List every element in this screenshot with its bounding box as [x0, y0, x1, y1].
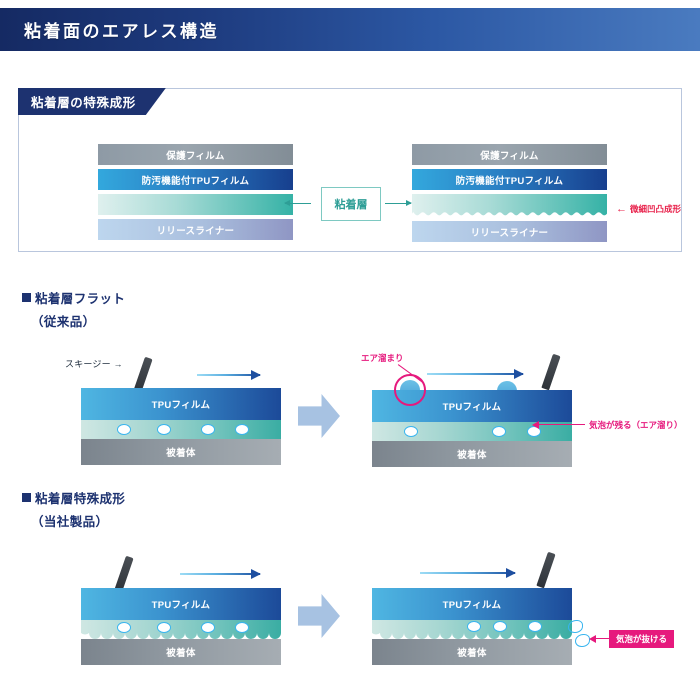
air-bubble: [404, 426, 418, 437]
page-title: 粘着面のエアレス構造: [0, 17, 219, 42]
micro-texture-label: 微細凹凸成形: [630, 203, 681, 215]
flow-direction-arrow: [197, 374, 260, 376]
air-bubble: [235, 622, 249, 633]
arrow-head-icon: [251, 370, 261, 380]
section-heading-text: 粘着層特殊成形: [35, 488, 125, 507]
tpu-film-layer: TPUフィルム: [372, 588, 572, 620]
layer-adhesive-textured: [412, 194, 607, 217]
substrate-layer: 被着体: [81, 439, 281, 465]
diagram-product-before: TPUフィルム 被着体: [81, 588, 281, 658]
layer-release-liner: リリースライナー: [412, 221, 607, 242]
squeegee-icon: [536, 552, 555, 589]
layer-adhesive-flat: [98, 194, 293, 215]
panel-tab-label: 粘着層の特殊成形: [18, 88, 166, 115]
section-subheading-product: （当社製品）: [31, 511, 108, 530]
squeegee-icon: [114, 556, 133, 593]
arrow-head-icon: [514, 369, 524, 379]
transition-arrow-icon: [298, 394, 340, 438]
layer-antifouling-tpu-film: 防汚機能付TPUフィルム: [412, 169, 607, 190]
micro-texture-annotation: ← 微細凹凸成形: [616, 203, 681, 215]
arrow-line: [427, 373, 523, 375]
layer-protective-film: 保護フィルム: [98, 144, 293, 165]
substrate-layer: 被着体: [372, 639, 572, 665]
air-bubble: [493, 621, 507, 632]
air-bubble: [117, 622, 131, 633]
escaping-air-bubble: [568, 620, 583, 633]
bubble-remains-leader-line: [539, 424, 585, 425]
layer-protective-film: 保護フィルム: [412, 144, 607, 165]
air-pocket-annotation-label: エア溜まり: [361, 352, 404, 364]
air-pocket-highlight-circle: [394, 374, 426, 406]
page-header: 粘着面のエアレス構造: [0, 8, 700, 51]
air-bubble: [157, 424, 171, 435]
adhesive-layer-callout: 粘着層: [307, 187, 395, 221]
section-heading-text: 粘着層フラット: [35, 288, 125, 307]
callout-arrow-left: [285, 203, 311, 204]
bubble-escape-tag: 気泡が抜ける: [609, 630, 674, 648]
flow-direction-arrow: [180, 573, 260, 575]
transition-arrow-icon: [298, 594, 340, 638]
layer-antifouling-tpu-film: 防汚機能付TPUフィルム: [98, 169, 293, 190]
section-subheading-conventional: （従来品）: [31, 311, 96, 330]
textured-adhesive-stack: 保護フィルム 防汚機能付TPUフィルム リリースライナー: [412, 144, 607, 246]
bubble-escape-arrow: [596, 638, 610, 639]
air-bubble: [528, 621, 542, 632]
squeegee-label: スキージー →: [65, 357, 123, 370]
adhesive-layer-label: 粘着層: [321, 187, 381, 221]
flow-direction-arrow: [427, 373, 523, 375]
air-bubble: [201, 424, 215, 435]
flat-adhesive-stack: 保護フィルム 防汚機能付TPUフィルム リリースライナー: [98, 144, 293, 244]
substrate-layer: 被着体: [81, 639, 281, 665]
tpu-film-layer: TPUフィルム: [81, 588, 281, 620]
arrow-head-icon: [251, 569, 261, 579]
air-bubble: [201, 622, 215, 633]
adhesive-structure-panel: 粘着層の特殊成形 保護フィルム 防汚機能付TPUフィルム リリースライナー 粘着…: [18, 88, 682, 252]
air-bubble: [492, 426, 506, 437]
arrow-head-icon: [506, 568, 516, 578]
arrow-line: [420, 572, 515, 574]
adhesive-layer-textured: [81, 620, 281, 639]
adhesive-layer: [81, 420, 281, 439]
bullet-square-icon: [22, 293, 31, 302]
tpu-film-layer: TPUフィルム: [81, 388, 281, 420]
air-bubble: [235, 424, 249, 435]
arrow-line: [180, 573, 260, 575]
substrate-layer: 被着体: [372, 441, 572, 467]
flow-direction-arrow: [420, 572, 515, 574]
squeegee-icon: [541, 354, 560, 391]
layer-release-liner: リリースライナー: [98, 219, 293, 240]
left-arrow-icon: ←: [616, 204, 627, 215]
diagram-conventional-before: TPUフィルム 被着体: [81, 388, 281, 458]
bubble-remains-label: 気泡が残る（エア溜り）: [589, 419, 683, 431]
escaping-air-bubble: [575, 634, 590, 647]
diagram-product-after: TPUフィルム 被着体: [372, 588, 572, 658]
section-heading-product: 粘着層特殊成形: [22, 488, 125, 507]
air-bubble: [117, 424, 131, 435]
section-heading-conventional: 粘着層フラット: [22, 288, 125, 307]
callout-arrow-right: [385, 203, 411, 204]
air-bubble: [157, 622, 171, 633]
bullet-square-icon: [22, 493, 31, 502]
air-bubble: [467, 621, 481, 632]
